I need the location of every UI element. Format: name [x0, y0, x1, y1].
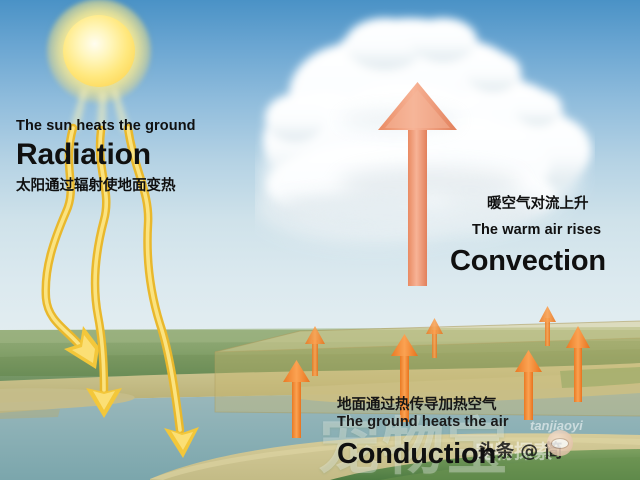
radiation-heading: Radiation	[16, 138, 151, 172]
heat-transfer-diagram: 宠物宝 tanjiaoyi 宠物探索 头条 @ 简 The sun heats …	[0, 0, 640, 480]
conduction-english-caption: The ground heats the air	[337, 414, 509, 430]
convection-heading: Convection	[450, 245, 606, 278]
conduction-chinese-caption: 地面通过热传导加热空气	[337, 393, 497, 414]
convection-chinese-caption: 暖空气对流上升	[487, 192, 589, 213]
radiation-english-caption: The sun heats the ground	[16, 118, 196, 134]
radiation-chinese-caption: 太阳通过辐射使地面变热	[16, 174, 176, 195]
conduction-heading: Conduction	[337, 438, 496, 471]
arrow-layer	[0, 0, 640, 480]
convection-english-caption: The warm air rises	[472, 222, 601, 238]
convection-updraft-arrow	[378, 82, 457, 286]
